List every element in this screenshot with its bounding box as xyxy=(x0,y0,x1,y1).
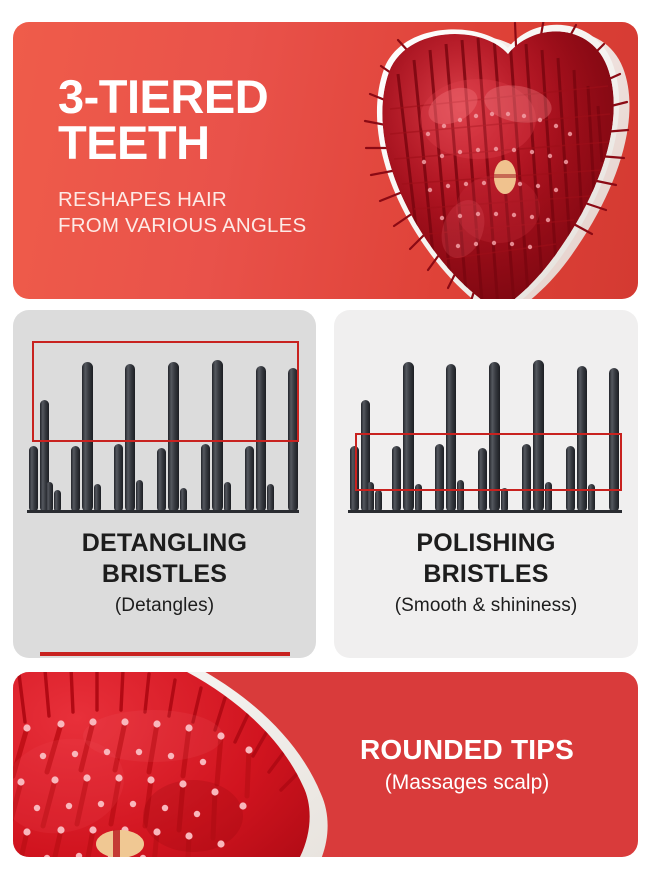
right-panel-caption: POLISHING BRISTLES (Smooth & shininess) xyxy=(334,528,638,617)
heart-shaped-hair-brush-image xyxy=(358,22,638,299)
subheadline-line-1: RESHAPES HAIR xyxy=(58,187,388,213)
subheadline: RESHAPES HAIR FROM VARIOUS ANGLES xyxy=(58,187,388,238)
top-panel-text: 3-TIERED TEETH RESHAPES HAIR FROM VARIOU… xyxy=(58,74,388,238)
red-brush-bristle-closeup-image xyxy=(13,672,343,857)
panel-three-tiered-teeth: 3-TIERED TEETH RESHAPES HAIR FROM VARIOU… xyxy=(13,22,638,299)
right-caption-title: POLISHING BRISTLES xyxy=(334,528,638,589)
left-panel-caption: DETANGLING BRISTLES (Detangles) xyxy=(13,528,316,617)
headline-line-1: 3-TIERED xyxy=(58,74,388,120)
right-caption-subtitle: (Smooth & shininess) xyxy=(334,595,638,617)
left-caption-title-line-2: BRISTLES xyxy=(13,559,316,590)
left-caption-title-line-1: DETANGLING xyxy=(13,528,316,559)
headline: 3-TIERED TEETH xyxy=(58,74,388,166)
highlight-box-upper-tier xyxy=(32,341,299,442)
right-caption-title-line-1: POLISHING xyxy=(334,528,638,559)
highlight-box-lower-tier xyxy=(355,433,622,491)
bottom-panel-text: ROUNDED TIPS (Massages scalp) xyxy=(332,734,602,795)
product-infographic: 3-TIERED TEETH RESHAPES HAIR FROM VARIOU… xyxy=(0,0,651,879)
left-caption-subtitle: (Detangles) xyxy=(13,595,316,617)
right-caption-title-line-2: BRISTLES xyxy=(334,559,638,590)
bristle-base-line xyxy=(348,510,622,513)
subheadline-line-2: FROM VARIOUS ANGLES xyxy=(58,213,388,239)
bottom-subtitle: (Massages scalp) xyxy=(332,771,602,795)
bottom-title: ROUNDED TIPS xyxy=(332,734,602,766)
bristle-base-line xyxy=(27,510,299,513)
panel-rounded-tips: ROUNDED TIPS (Massages scalp) xyxy=(13,672,638,857)
headline-line-2: TEETH xyxy=(58,120,388,166)
left-caption-title: DETANGLING BRISTLES xyxy=(13,528,316,589)
brush-red-pad xyxy=(358,22,638,299)
polishing-bristle-diagram xyxy=(334,332,638,532)
